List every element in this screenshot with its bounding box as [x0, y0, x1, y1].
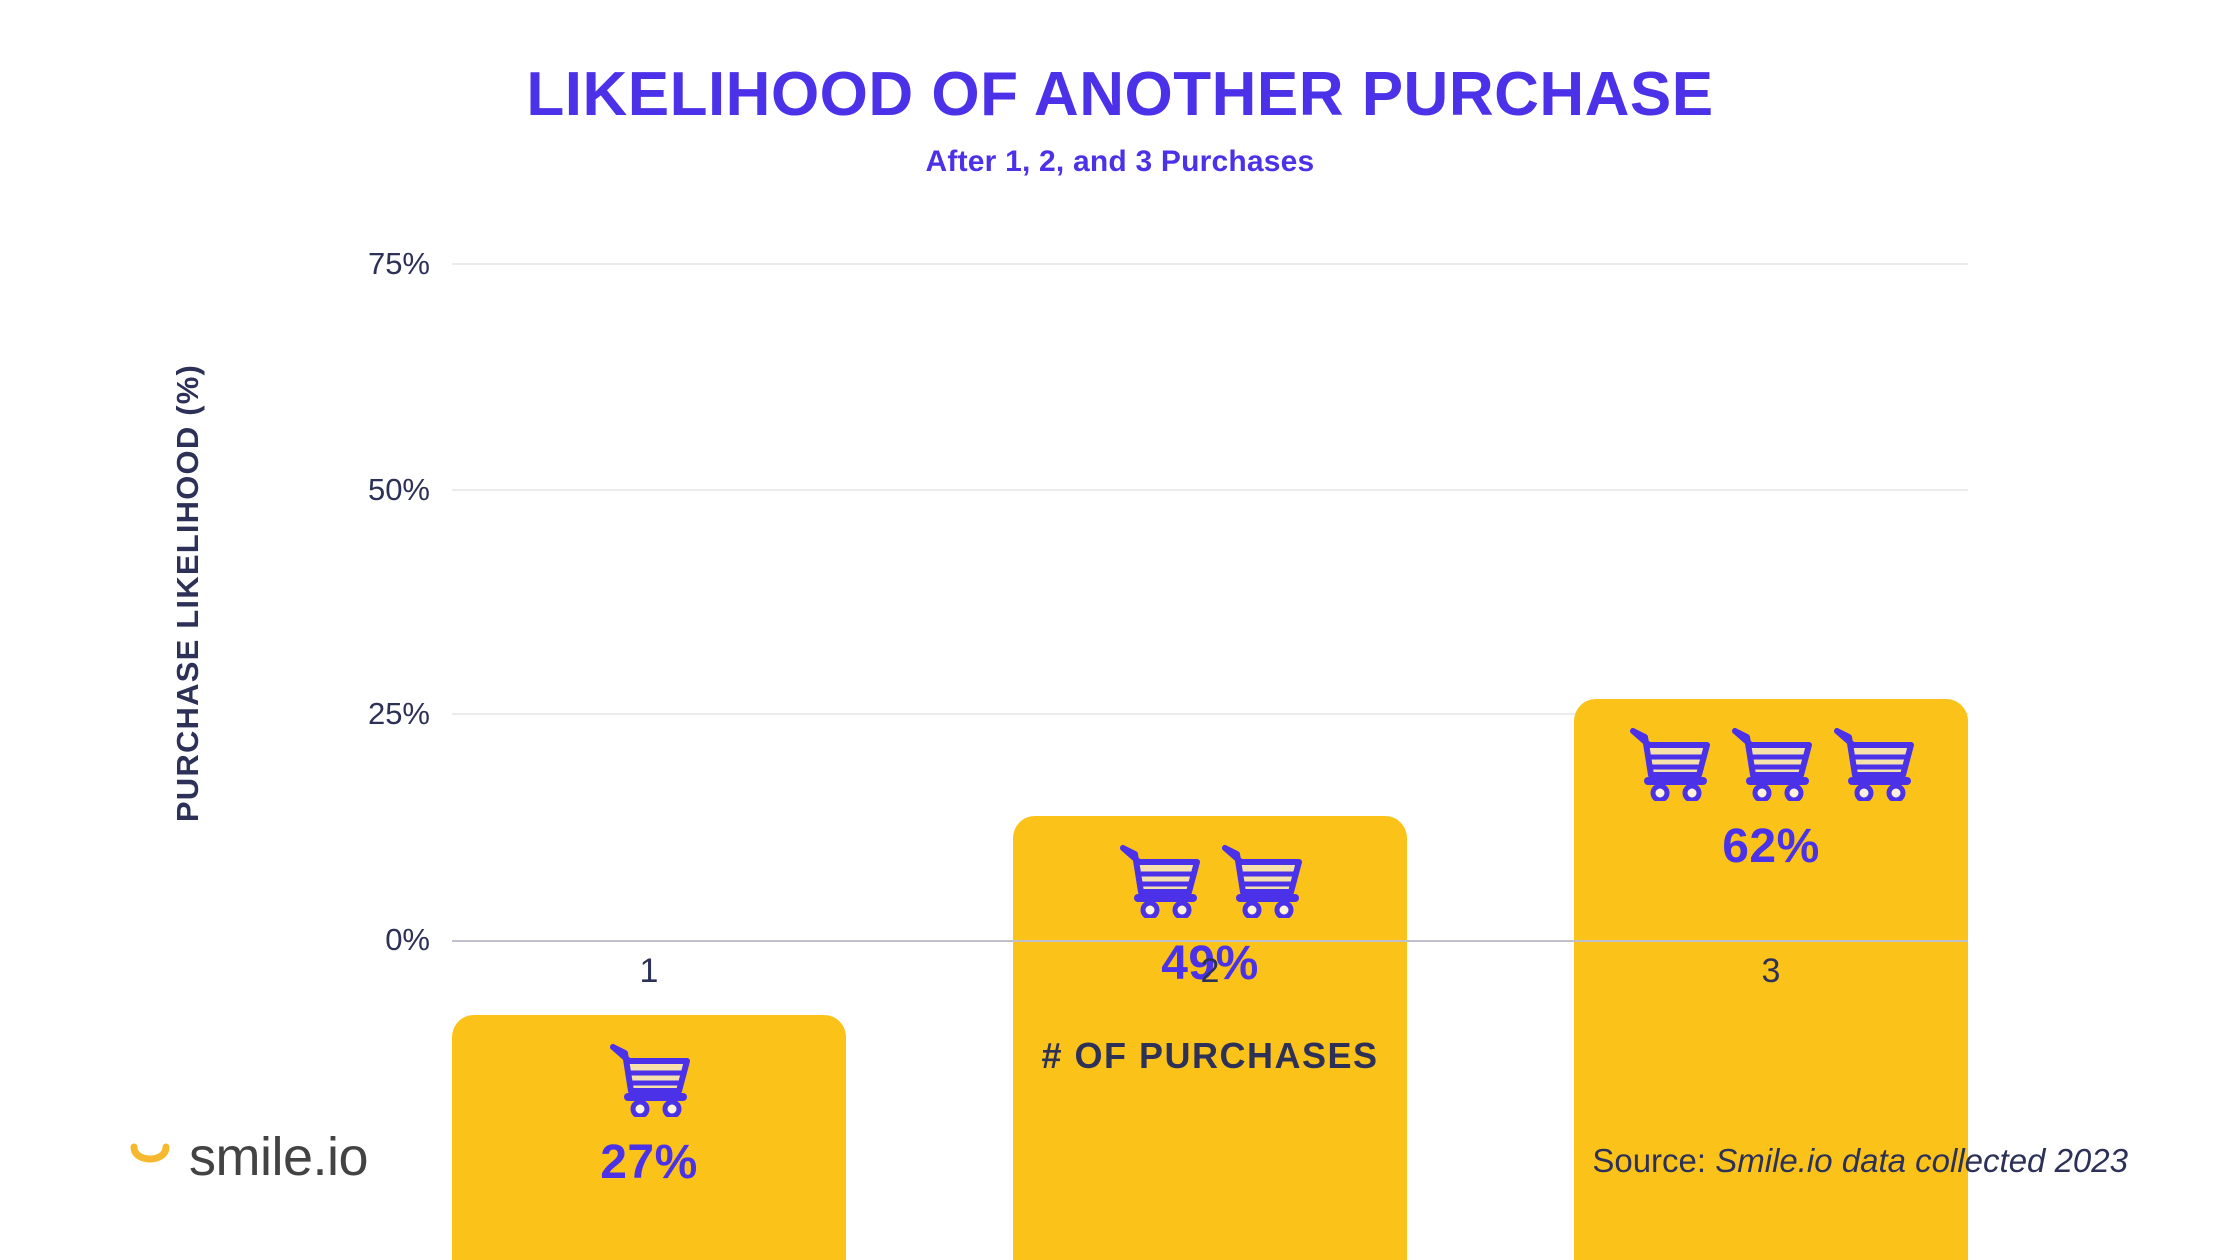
y-tick-label: 25% [300, 696, 430, 732]
x-axis-tick-labels: 1 2 3 [452, 952, 1968, 1012]
y-tick-label: 50% [300, 472, 430, 508]
x-axis-title: # OF PURCHASES [452, 1035, 1968, 1077]
bar-group-2: 49% [1013, 320, 1407, 1260]
brand-logo[interactable]: smile.io [128, 1130, 368, 1184]
y-tick-label: 0% [300, 922, 430, 958]
infographic-canvas: LIKELIHOOD OF ANOTHER PURCHASE After 1, … [0, 0, 2240, 1260]
shopping-cart-icon [1727, 723, 1815, 801]
source-note: Source: Smile.io data collected 2023 [1592, 1142, 2128, 1180]
footer: smile.io Source: Smile.io data collected… [0, 1130, 2240, 1220]
x-tick-label-3: 3 [1762, 952, 1781, 991]
shopping-cart-icon [1829, 723, 1917, 801]
plot-area: PURCHASE LIKELIHOOD (%) 0% 25% 50% 75% [0, 0, 2240, 1260]
x-axis-baseline [452, 940, 1968, 942]
x-tick-label-2: 2 [1201, 952, 1220, 991]
shopping-cart-icon [1115, 840, 1203, 918]
x-tick-label-1: 1 [640, 952, 659, 991]
source-value: Smile.io data collected 2023 [1715, 1142, 2128, 1179]
shopping-cart-icon [1625, 723, 1713, 801]
y-axis-title: PURCHASE LIKELIHOOD (%) [170, 333, 206, 853]
brand-name: smile.io [189, 1130, 368, 1184]
y-tick-label: 75% [300, 246, 430, 282]
bar-3-content: 62% [1574, 699, 1968, 871]
bar-2-cart-icons [1115, 840, 1305, 918]
bar-3-value-label: 62% [1722, 823, 1820, 871]
y-axis-tick-labels: 0% 25% 50% 75% [300, 0, 430, 1260]
shopping-cart-icon [1217, 840, 1305, 918]
bar-group-3: 62% [1574, 320, 1968, 1260]
bar-group-1: 27% [452, 320, 846, 1260]
bar-3-cart-icons [1625, 723, 1917, 801]
source-label: Source: [1592, 1142, 1706, 1179]
smile-arc-icon [128, 1139, 172, 1175]
